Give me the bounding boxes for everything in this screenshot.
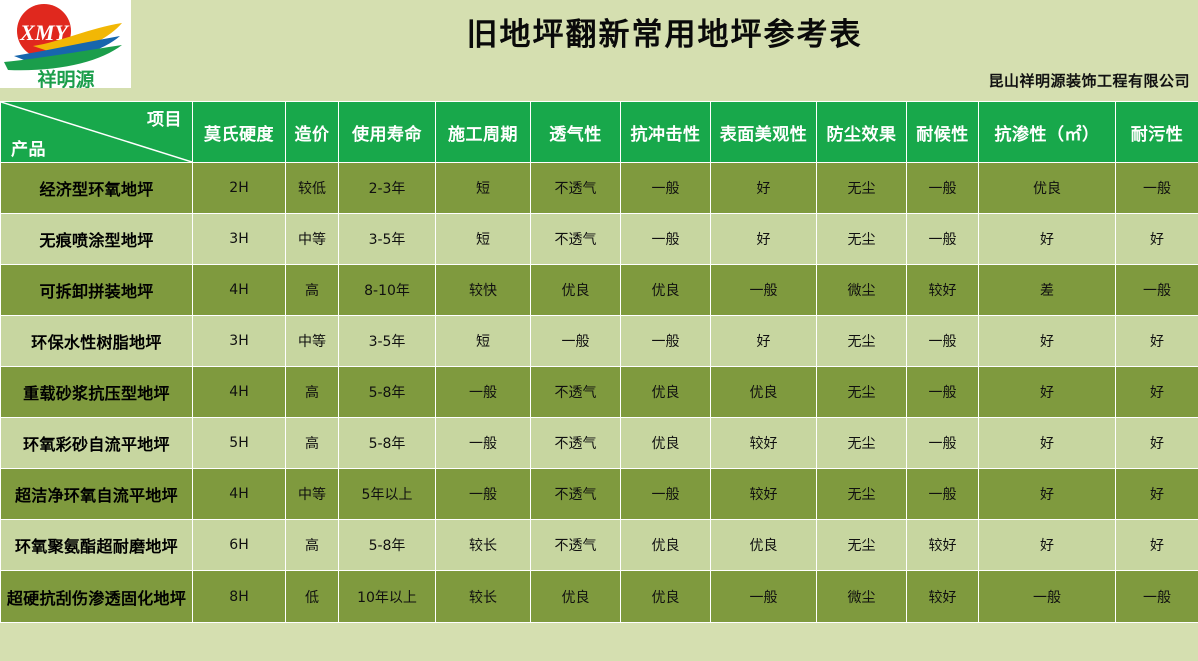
table-cell: 4H — [193, 265, 286, 316]
table-cell: 好 — [979, 418, 1116, 469]
table-cell: 优良 — [531, 571, 621, 623]
table-cell: 8-10年 — [339, 265, 436, 316]
table-cell: 一般 — [1116, 265, 1198, 316]
corner-bottom-label: 产品 — [11, 135, 46, 160]
table-cell: 10年以上 — [339, 571, 436, 623]
table-cell: 高 — [286, 418, 339, 469]
table-cell: 一般 — [711, 265, 817, 316]
table-cell: 低 — [286, 571, 339, 623]
product-name-cell: 环保水性树脂地坪 — [1, 316, 193, 367]
column-header-permeability-resistance: 抗渗性（㎡） — [979, 102, 1116, 163]
table-cell: 不透气 — [531, 520, 621, 571]
table-row: 超洁净环氧自流平地坪4H中等5年以上一般不透气一般较好无尘一般好好 — [1, 469, 1198, 520]
table-cell: 短 — [436, 316, 531, 367]
table-cell: 无尘 — [817, 469, 907, 520]
table-cell: 不透气 — [531, 214, 621, 265]
table-cell: 较好 — [711, 469, 817, 520]
table-cell: 优良 — [711, 520, 817, 571]
table-cell: 一般 — [907, 469, 979, 520]
column-header-breathability: 透气性 — [531, 102, 621, 163]
table-cell: 5年以上 — [339, 469, 436, 520]
table-cell: 无尘 — [817, 367, 907, 418]
table-cell: 较好 — [907, 520, 979, 571]
column-header-impact-resistance: 抗冲击性 — [621, 102, 711, 163]
product-name-cell: 经济型环氧地坪 — [1, 163, 193, 214]
table-cell: 短 — [436, 163, 531, 214]
table-cell: 好 — [1116, 520, 1198, 571]
table-cell: 一般 — [907, 316, 979, 367]
table-cell: 一般 — [907, 214, 979, 265]
header-corner-cell: 项目 产品 — [1, 102, 193, 163]
table-row: 经济型环氧地坪2H较低2-3年短不透气一般好无尘一般优良一般 — [1, 163, 1198, 214]
column-header-surface-aesthetics: 表面美观性 — [711, 102, 817, 163]
table-cell: 3-5年 — [339, 316, 436, 367]
table-cell: 高 — [286, 520, 339, 571]
table-cell: 高 — [286, 265, 339, 316]
product-name-cell: 环氧聚氨酯超耐磨地坪 — [1, 520, 193, 571]
table-cell: 优良 — [711, 367, 817, 418]
table-cell: 好 — [1116, 418, 1198, 469]
table-cell: 较长 — [436, 571, 531, 623]
table-cell: 无尘 — [817, 316, 907, 367]
table-cell: 优良 — [979, 163, 1116, 214]
table-cell: 好 — [1116, 316, 1198, 367]
table-row: 超硬抗刮伤渗透固化地坪8H低10年以上较长优良优良一般微尘较好一般一般 — [1, 571, 1198, 623]
table-cell: 差 — [979, 265, 1116, 316]
table-cell: 好 — [979, 520, 1116, 571]
table-cell: 好 — [1116, 214, 1198, 265]
table-cell: 较长 — [436, 520, 531, 571]
reference-table-wrapper: 项目 产品 莫氏硬度 造价 使用寿命 施工周期 透气性 抗冲击性 表面美观性 防… — [0, 101, 1198, 623]
document-header: XMY 祥明源 旧地坪翻新常用地坪参考表 昆山祥明源装饰工程有限公司 — [0, 0, 1198, 101]
logo-artwork: XMY 祥明源 — [0, 0, 131, 88]
table-cell: 一般 — [979, 571, 1116, 623]
table-cell: 一般 — [621, 214, 711, 265]
page-title: 旧地坪翻新常用地坪参考表 — [131, 0, 1198, 62]
table-cell: 不透气 — [531, 469, 621, 520]
table-cell: 好 — [1116, 469, 1198, 520]
table-cell: 微尘 — [817, 571, 907, 623]
product-name-cell: 重载砂浆抗压型地坪 — [1, 367, 193, 418]
table-cell: 一般 — [621, 163, 711, 214]
table-cell: 一般 — [436, 367, 531, 418]
table-row: 环氧聚氨酯超耐磨地坪6H高5-8年较长不透气优良优良无尘较好好好 — [1, 520, 1198, 571]
table-cell: 5-8年 — [339, 367, 436, 418]
logo-wordmark: 祥明源 — [37, 68, 94, 88]
table-cell: 好 — [711, 163, 817, 214]
table-cell: 一般 — [531, 316, 621, 367]
table-row: 环氧彩砂自流平地坪5H高5-8年一般不透气优良较好无尘一般好好 — [1, 418, 1198, 469]
table-cell: 一般 — [1116, 163, 1198, 214]
table-cell: 一般 — [907, 163, 979, 214]
table-cell: 较好 — [907, 265, 979, 316]
table-cell: 一般 — [436, 418, 531, 469]
table-cell: 一般 — [621, 316, 711, 367]
product-name-cell: 超硬抗刮伤渗透固化地坪 — [1, 571, 193, 623]
table-cell: 无尘 — [817, 163, 907, 214]
table-cell: 无尘 — [817, 418, 907, 469]
table-cell: 好 — [979, 214, 1116, 265]
table-cell: 短 — [436, 214, 531, 265]
product-name-cell: 可拆卸拼装地坪 — [1, 265, 193, 316]
table-header: 项目 产品 莫氏硬度 造价 使用寿命 施工周期 透气性 抗冲击性 表面美观性 防… — [1, 102, 1198, 163]
table-cell: 4H — [193, 367, 286, 418]
table-cell: 一般 — [907, 367, 979, 418]
table-cell: 较好 — [711, 418, 817, 469]
table-cell: 中等 — [286, 316, 339, 367]
table-cell: 3H — [193, 214, 286, 265]
company-logo: XMY 祥明源 — [0, 0, 131, 88]
corner-top-label: 项目 — [147, 105, 182, 130]
column-header-stain-resistance: 耐污性 — [1116, 102, 1198, 163]
table-cell: 优良 — [531, 265, 621, 316]
table-cell: 6H — [193, 520, 286, 571]
table-cell: 好 — [979, 316, 1116, 367]
table-cell: 4H — [193, 469, 286, 520]
header-row: 项目 产品 莫氏硬度 造价 使用寿命 施工周期 透气性 抗冲击性 表面美观性 防… — [1, 102, 1198, 163]
table-cell: 一般 — [711, 571, 817, 623]
column-header-dustproof: 防尘效果 — [817, 102, 907, 163]
table-cell: 优良 — [621, 520, 711, 571]
column-header-construction-cycle: 施工周期 — [436, 102, 531, 163]
column-header-service-life: 使用寿命 — [339, 102, 436, 163]
table-row: 环保水性树脂地坪3H中等3-5年短一般一般好无尘一般好好 — [1, 316, 1198, 367]
table-cell: 8H — [193, 571, 286, 623]
table-cell: 微尘 — [817, 265, 907, 316]
table-cell: 3-5年 — [339, 214, 436, 265]
table-cell: 好 — [979, 367, 1116, 418]
table-cell: 无尘 — [817, 520, 907, 571]
table-body: 经济型环氧地坪2H较低2-3年短不透气一般好无尘一般优良一般无痕喷涂型地坪3H中… — [1, 163, 1198, 623]
table-cell: 5-8年 — [339, 520, 436, 571]
product-name-cell: 无痕喷涂型地坪 — [1, 214, 193, 265]
table-cell: 无尘 — [817, 214, 907, 265]
table-row: 可拆卸拼装地坪4H高8-10年较快优良优良一般微尘较好差一般 — [1, 265, 1198, 316]
table-cell: 中等 — [286, 469, 339, 520]
table-row: 无痕喷涂型地坪3H中等3-5年短不透气一般好无尘一般好好 — [1, 214, 1198, 265]
table-cell: 好 — [979, 469, 1116, 520]
table-cell: 5-8年 — [339, 418, 436, 469]
table-cell: 较好 — [907, 571, 979, 623]
table-cell: 5H — [193, 418, 286, 469]
table-cell: 优良 — [621, 571, 711, 623]
table-cell: 一般 — [907, 418, 979, 469]
table-cell: 高 — [286, 367, 339, 418]
table-cell: 不透气 — [531, 418, 621, 469]
table-cell: 不透气 — [531, 367, 621, 418]
product-name-cell: 超洁净环氧自流平地坪 — [1, 469, 193, 520]
company-name: 昆山祥明源装饰工程有限公司 — [988, 70, 1190, 91]
table-cell: 2H — [193, 163, 286, 214]
page-root: XMY 祥明源 旧地坪翻新常用地坪参考表 昆山祥明源装饰工程有限公司 — [0, 0, 1198, 661]
table-cell: 好 — [1116, 367, 1198, 418]
table-cell: 一般 — [621, 469, 711, 520]
table-cell: 优良 — [621, 367, 711, 418]
table-cell: 较低 — [286, 163, 339, 214]
flooring-reference-table: 项目 产品 莫氏硬度 造价 使用寿命 施工周期 透气性 抗冲击性 表面美观性 防… — [0, 101, 1198, 623]
table-cell: 2-3年 — [339, 163, 436, 214]
column-header-mohs-hardness: 莫氏硬度 — [193, 102, 286, 163]
table-cell: 3H — [193, 316, 286, 367]
table-row: 重载砂浆抗压型地坪4H高5-8年一般不透气优良优良无尘一般好好 — [1, 367, 1198, 418]
column-header-cost: 造价 — [286, 102, 339, 163]
table-cell: 一般 — [1116, 571, 1198, 623]
table-cell: 好 — [711, 214, 817, 265]
product-name-cell: 环氧彩砂自流平地坪 — [1, 418, 193, 469]
table-cell: 中等 — [286, 214, 339, 265]
table-cell: 较快 — [436, 265, 531, 316]
column-header-weather-resistance: 耐候性 — [907, 102, 979, 163]
table-cell: 好 — [711, 316, 817, 367]
table-cell: 优良 — [621, 265, 711, 316]
table-cell: 不透气 — [531, 163, 621, 214]
table-cell: 一般 — [436, 469, 531, 520]
table-cell: 优良 — [621, 418, 711, 469]
